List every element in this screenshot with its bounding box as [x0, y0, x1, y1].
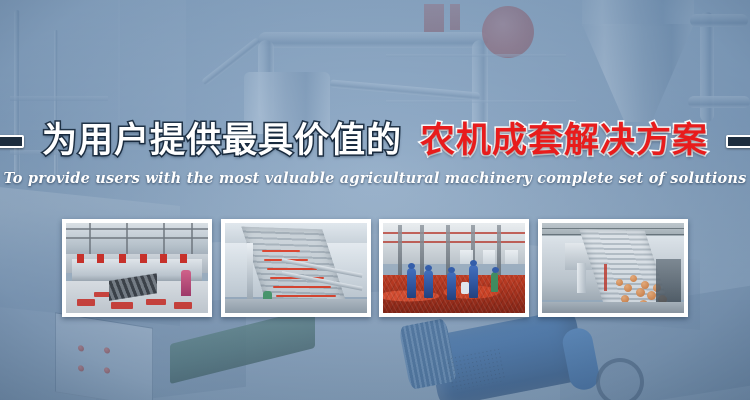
- t2-overlay: [225, 223, 367, 313]
- thumbnail-3-image: [383, 223, 525, 313]
- t4-overlay: [542, 223, 684, 313]
- thumbnail-4[interactable]: [538, 219, 688, 317]
- thumbnail-strip: [62, 219, 688, 317]
- thumbnail-4-image: [542, 223, 684, 313]
- subheadline-text: To provide users with the most valuable …: [0, 170, 750, 187]
- promo-banner: 为用户提供最具价值的 农机成套解决方案 To provide users wit…: [0, 0, 750, 400]
- thumbnail-2-image: [225, 223, 367, 313]
- thumbnail-1[interactable]: [62, 219, 212, 317]
- t3-overlay: [383, 223, 525, 313]
- thumbnail-3[interactable]: [379, 219, 529, 317]
- thumbnail-2[interactable]: [221, 219, 371, 317]
- thumbnail-1-image: [66, 223, 208, 313]
- background-vignette: [0, 0, 750, 400]
- t1-overlay: [66, 223, 208, 313]
- background-photo: [0, 0, 750, 400]
